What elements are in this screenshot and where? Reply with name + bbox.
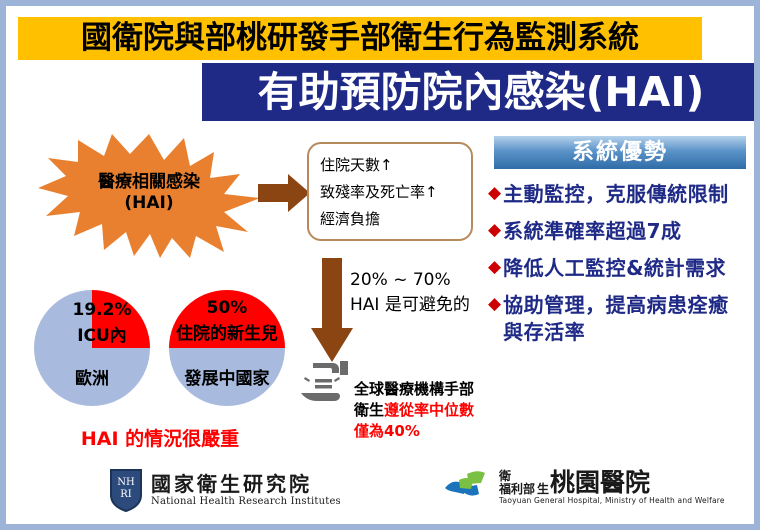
advantage-item: ◆ 協助管理，提高病患痊癒與存活率	[488, 292, 748, 346]
preventable-note: 20% ~ 70% HAI 是可避免的	[350, 268, 470, 318]
tygh-name-big: 桃園醫院	[550, 469, 650, 496]
arrow-right-icon	[258, 174, 310, 212]
consequence-line: 住院天數↑	[320, 152, 471, 179]
consequences-box: 住院天數↑ 致殘率及死亡率↑ 經濟負擔	[307, 142, 473, 241]
svg-text:RI: RI	[120, 489, 132, 500]
tygh-prefix-a: 衛	[499, 470, 511, 483]
hand-hygiene-highlight-1: 遵從率中	[384, 401, 444, 419]
advantage-item: ◆ 系統準確率超過7成	[488, 218, 748, 245]
advantage-item: ◆ 降低人工監控&統計需求	[488, 255, 748, 282]
advantage-label: 降低人工監控&統計需求	[503, 255, 726, 282]
tygh-name-row: 衛 福利部 生 桃園醫院	[499, 469, 725, 496]
advantages-list: ◆ 主動監控，克服傳統限制 ◆ 系統準確率超過7成 ◆ 降低人工監控&統計需求 …	[488, 181, 748, 346]
diamond-bullet-icon: ◆	[488, 255, 501, 280]
advantage-label: 系統準確率超過7成	[503, 218, 681, 245]
diamond-bullet-icon: ◆	[488, 218, 501, 243]
poster-title-secondary: 有助預防院內感染(HAI)	[202, 63, 760, 121]
consequence-line: 經濟負擔	[320, 206, 471, 233]
diamond-bullet-icon: ◆	[488, 292, 501, 317]
pie-chart-developing-newborn	[169, 290, 285, 406]
nhri-logo: NH RI 國家衛生研究院 National Health Research I…	[109, 468, 341, 512]
advantages-header: 系統優勢	[494, 136, 746, 169]
tygh-prefix-stack: 衛 福利部	[499, 470, 535, 496]
nhri-shield-icon: NH RI	[109, 468, 143, 512]
arrow-down-icon	[311, 258, 353, 362]
infographic-poster: 國衛院與部桃研發手部衛生行為監測系統 有助預防院內感染(HAI) 醫療相關感染 …	[0, 0, 760, 530]
advantage-item: ◆ 主動監控，克服傳統限制	[488, 181, 748, 208]
tygh-text-block: 衛 福利部 生 桃園醫院 Taoyuan General Hospital, M…	[499, 469, 725, 506]
severity-note: HAI 的情況很嚴重	[34, 424, 286, 451]
hand-hygiene-plain-1: 全球醫療機構手	[354, 380, 459, 398]
tygh-logo: 衛 福利部 生 桃園醫院 Taoyuan General Hospital, M…	[443, 468, 725, 506]
starburst-shape	[34, 132, 264, 260]
nhri-name-en: National Health Research Institutes	[151, 495, 341, 508]
advantage-label: 主動監控，克服傳統限制	[503, 181, 729, 208]
tygh-name-en: Taoyuan General Hospital, Ministry of He…	[499, 496, 725, 506]
advantage-label: 協助管理，提高病患痊癒與存活率	[503, 292, 748, 346]
tygh-mark-icon	[443, 468, 495, 506]
hai-starburst: 醫療相關感染 (HAI)	[34, 132, 264, 260]
svg-text:NH: NH	[117, 477, 135, 488]
hand-hygiene-note: 全球醫療機構手部衛生遵從率中位數僅為40%	[354, 379, 482, 442]
pie-chart-europe-icu	[34, 290, 150, 406]
nhri-text-block: 國家衛生研究院 National Health Research Institu…	[151, 473, 341, 508]
poster-title-primary: 國衛院與部桃研發手部衛生行為監測系統	[18, 17, 702, 60]
preventable-line-1: 20% ~ 70%	[350, 268, 470, 293]
consequence-line: 致殘率及死亡率↑	[320, 179, 471, 206]
advantages-panel: 系統優勢 ◆ 主動監控，克服傳統限制 ◆ 系統準確率超過7成 ◆ 降低人工監控&…	[488, 136, 748, 458]
preventable-line-2: HAI 是可避免的	[350, 293, 470, 318]
nhri-name-cn: 國家衛生研究院	[151, 473, 341, 495]
hand-washing-icon	[299, 359, 351, 409]
tygh-prefix-c: 生	[537, 483, 549, 496]
diamond-bullet-icon: ◆	[488, 181, 501, 206]
tygh-prefix-b: 福利部	[499, 483, 535, 496]
